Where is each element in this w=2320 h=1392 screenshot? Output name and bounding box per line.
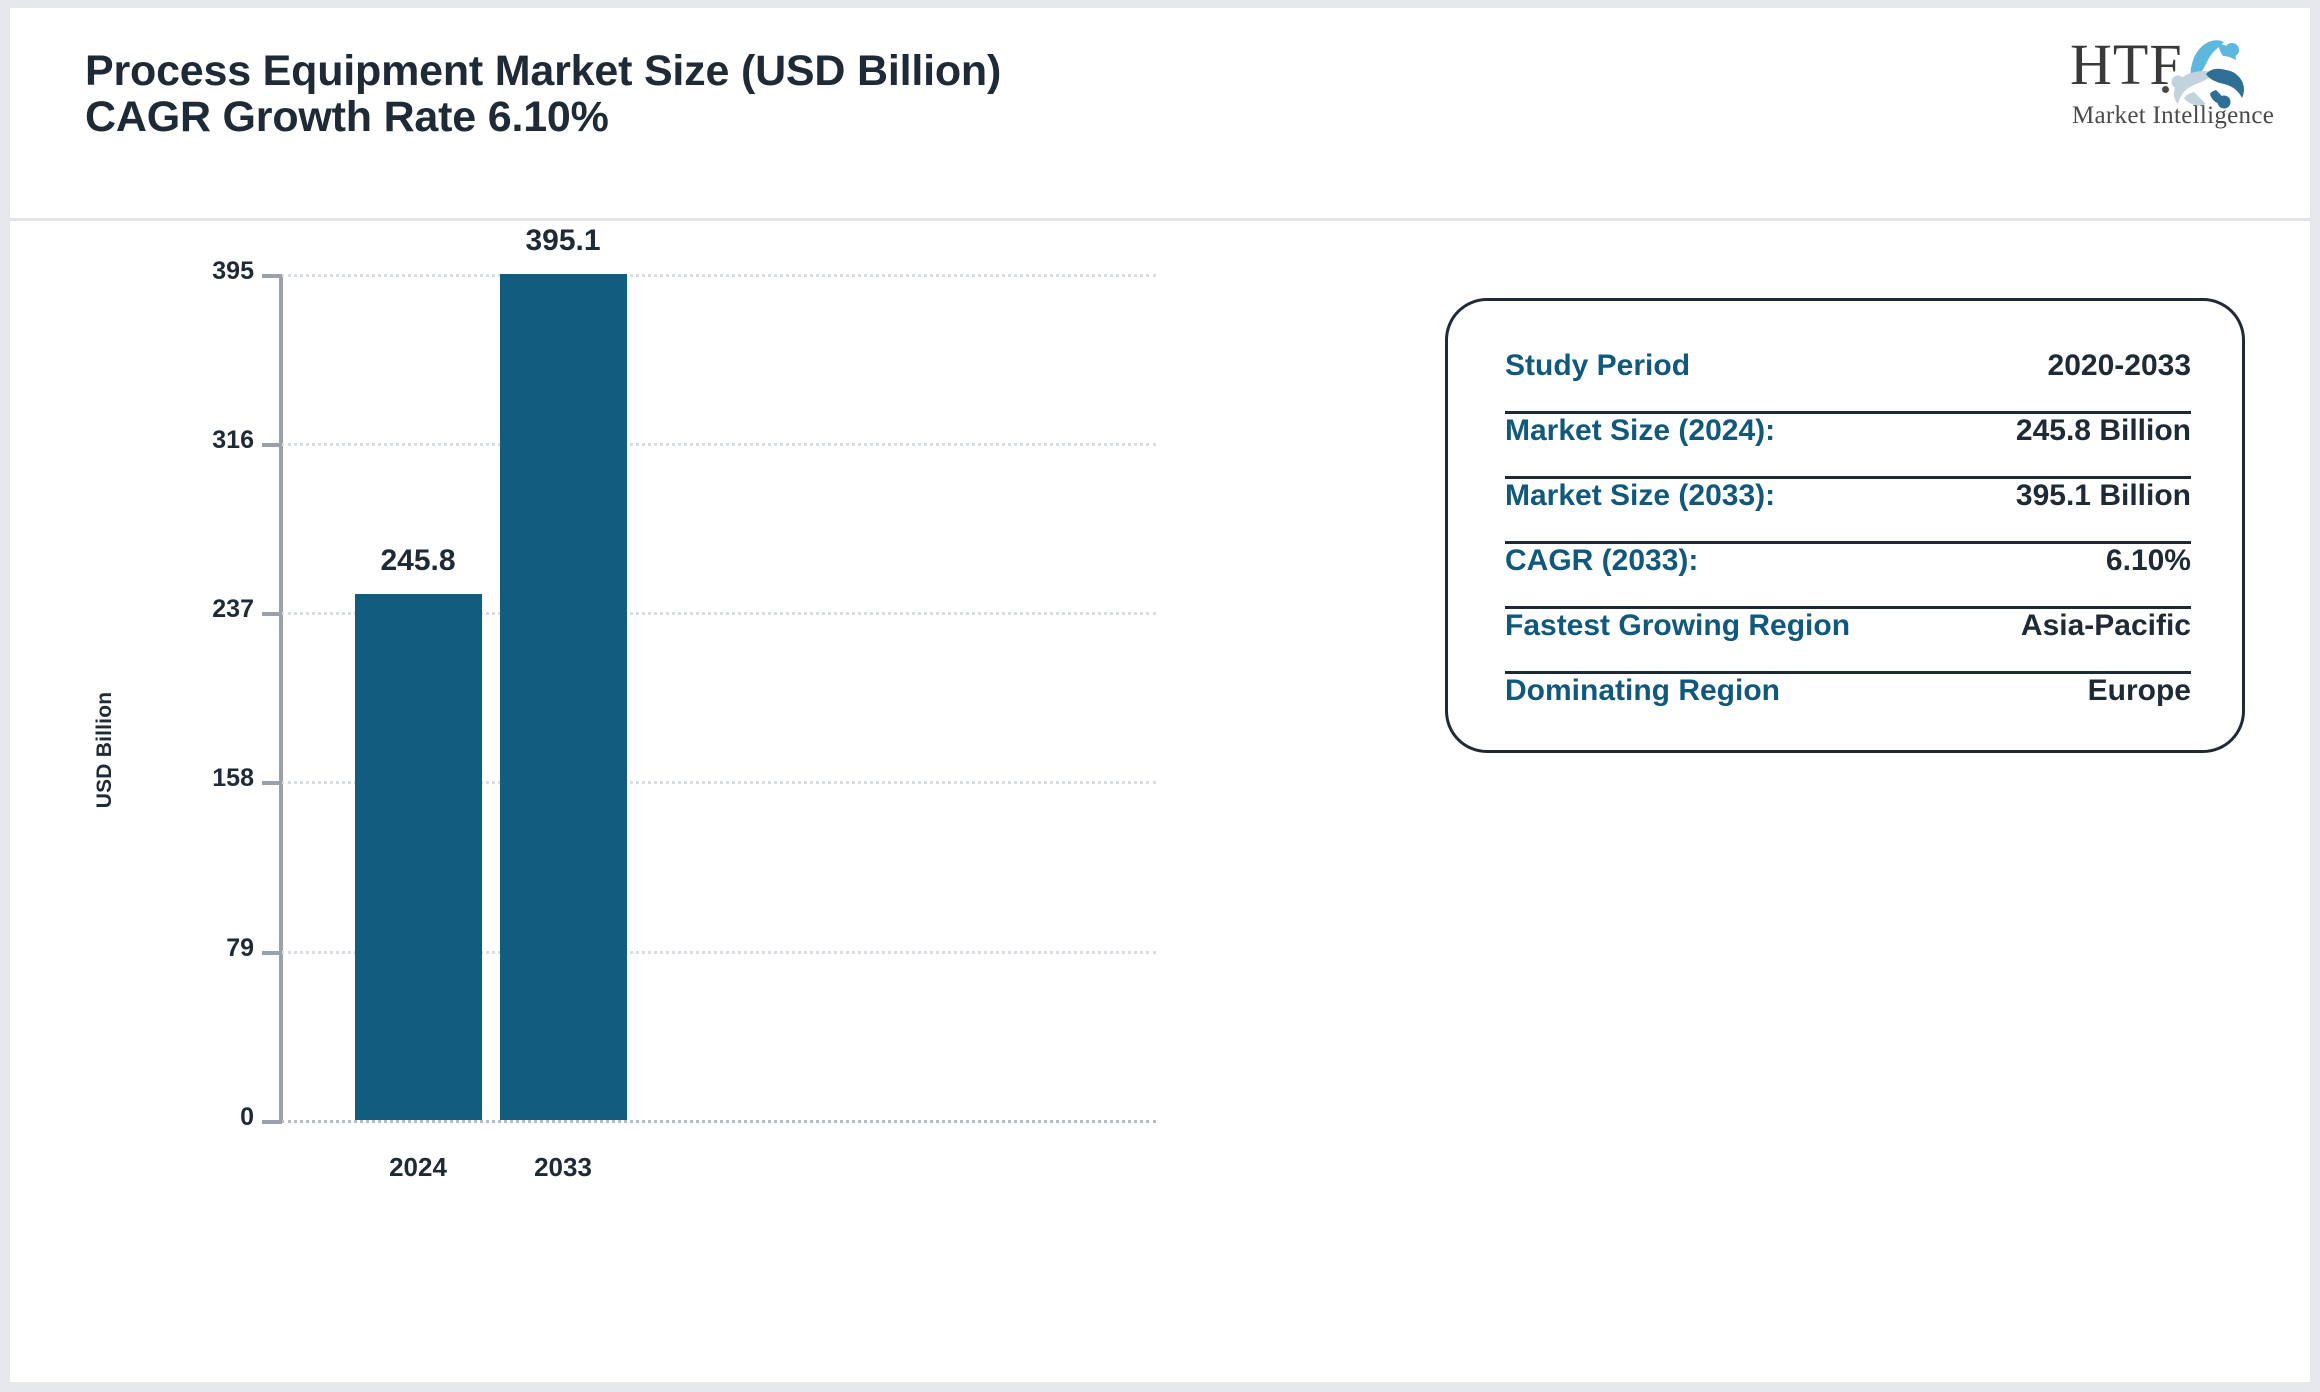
- summary-value-market-size-2024: 245.8 Billion: [2016, 414, 2191, 448]
- summary-row-cagr: CAGR (2033): 6.10%: [1505, 544, 2191, 609]
- summary-label-study-period: Study Period: [1505, 349, 1690, 383]
- y-tick-label-316: 316: [134, 426, 254, 455]
- summary-rows: Study Period 2020-2033 Market Size (2024…: [1505, 349, 2191, 736]
- summary-row-fastest-growing-region: Fastest Growing Region Asia-Pacific: [1505, 609, 2191, 674]
- summary-label-market-size-2033: Market Size (2033):: [1505, 479, 1775, 513]
- summary-value-fastest-growing-region: Asia-Pacific: [2021, 609, 2191, 643]
- summary-value-study-period: 2020-2033: [2048, 349, 2191, 383]
- gridline-316: [281, 443, 1156, 446]
- y-tick-label-0: 0: [134, 1103, 254, 1132]
- y-tick-label-395: 395: [134, 257, 254, 286]
- y-tick-mark-0: [262, 1120, 282, 1124]
- summary-label-fastest-growing-region: Fastest Growing Region: [1505, 609, 1850, 643]
- y-tick-label-158: 158: [134, 764, 254, 793]
- page-title: Process Equipment Market Size (USD Billi…: [85, 48, 1685, 140]
- brand-logo: HTF: [2070, 30, 2270, 138]
- y-tick-mark-79: [262, 951, 282, 955]
- logo-triskelion-icon: [2162, 30, 2258, 110]
- summary-value-market-size-2033: 395.1 Billion: [2016, 479, 2191, 513]
- y-tick-label-79: 79: [134, 934, 254, 963]
- summary-value-cagr: 6.10%: [2106, 544, 2191, 578]
- page-root: Process Equipment Market Size (USD Billi…: [0, 0, 2320, 1392]
- content-sheet: Process Equipment Market Size (USD Billi…: [10, 8, 2310, 1382]
- gridline-395: [281, 274, 1156, 277]
- summary-row-dominating-region: Dominating Region Europe: [1505, 674, 2191, 736]
- bar-value-2033: 395.1: [443, 224, 683, 258]
- y-tick-mark-395: [262, 274, 282, 278]
- summary-label-cagr: CAGR (2033):: [1505, 544, 1698, 578]
- bar-2024[interactable]: [355, 594, 482, 1120]
- y-tick-label-237: 237: [134, 595, 254, 624]
- bar-2033[interactable]: [500, 274, 627, 1120]
- header: Process Equipment Market Size (USD Billi…: [10, 8, 2310, 218]
- logo-tagline: Market Intelligence: [2072, 102, 2274, 130]
- y-tick-mark-237: [262, 612, 282, 616]
- y-tick-mark-158: [262, 781, 282, 785]
- summary-row-study-period: Study Period 2020-2033: [1505, 349, 2191, 414]
- market-summary-card: Study Period 2020-2033 Market Size (2024…: [1445, 298, 2245, 753]
- summary-label-market-size-2024: Market Size (2024):: [1505, 414, 1775, 448]
- y-axis-label: USD Billion: [93, 640, 117, 860]
- summary-value-dominating-region: Europe: [2088, 674, 2191, 708]
- y-axis-spine: [279, 274, 283, 1120]
- summary-row-market-size-2033: Market Size (2033): 395.1 Billion: [1505, 479, 2191, 544]
- gridline-0: [281, 1120, 1156, 1123]
- y-tick-mark-316: [262, 443, 282, 447]
- bar-chart: USD Billion 395 316 237: [10, 218, 1310, 1378]
- summary-row-market-size-2024: Market Size (2024): 245.8 Billion: [1505, 414, 2191, 479]
- x-tick-label-2033: 2033: [443, 1152, 683, 1183]
- summary-label-dominating-region: Dominating Region: [1505, 674, 1780, 708]
